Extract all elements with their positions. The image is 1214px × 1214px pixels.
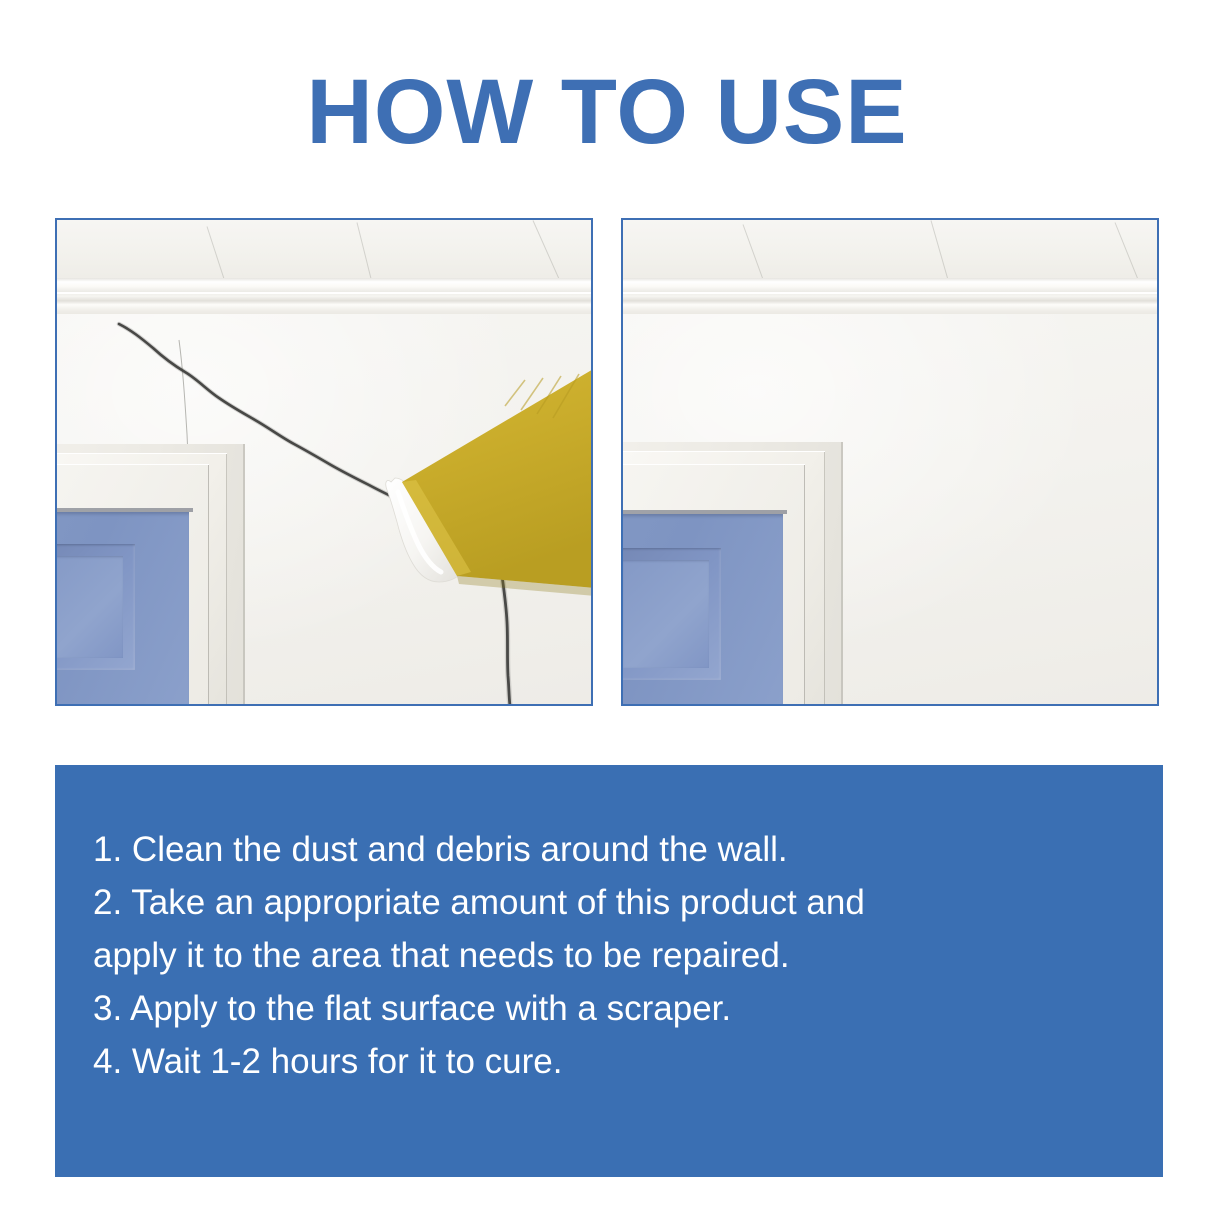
instruction-step-1: 1. Clean the dust and debris around the … — [93, 823, 1127, 876]
wall-scene-before — [57, 220, 591, 704]
instruction-step-3: 3. Apply to the flat surface with a scra… — [93, 982, 1127, 1035]
infographic-page: HOW TO USE — [0, 0, 1214, 1214]
door-panel-face — [623, 560, 709, 668]
crown-molding — [623, 278, 1157, 316]
photo-panel-group — [55, 218, 1163, 706]
instruction-step-4: 4. Wait 1-2 hours for it to cure. — [93, 1035, 1127, 1088]
instructions-list: 1. Clean the dust and debris around the … — [93, 823, 1127, 1088]
door-and-casing — [623, 442, 843, 704]
ceiling — [623, 220, 1157, 282]
photo-panel-before-repair — [55, 218, 593, 706]
instruction-step-2-continued: apply it to the area that needs to be re… — [93, 929, 1127, 982]
instruction-step-2: 2. Take an appropriate amount of this pr… — [93, 876, 1127, 929]
page-title: HOW TO USE — [0, 66, 1214, 158]
scraper-tool — [57, 220, 591, 704]
wall-scene-after — [623, 220, 1157, 704]
instructions-box: 1. Clean the dust and debris around the … — [55, 765, 1163, 1177]
photo-panel-after-repair — [621, 218, 1159, 706]
